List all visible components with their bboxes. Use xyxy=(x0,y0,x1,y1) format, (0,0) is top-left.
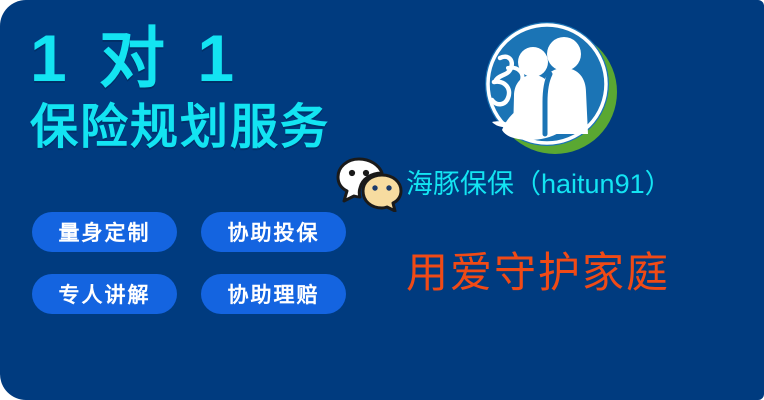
service-badge[interactable]: 协助投保 xyxy=(201,212,346,252)
wechat-handle-text: 海豚保保（haitun91） xyxy=(406,167,672,201)
headline-primary: 1 对 1 xyxy=(30,22,390,94)
globe-family-dolphin-icon xyxy=(478,18,624,158)
service-badge[interactable]: 量身定制 xyxy=(32,212,177,252)
wechat-icon xyxy=(336,156,404,212)
brand-logo xyxy=(478,18,624,158)
service-badge[interactable]: 专人讲解 xyxy=(32,274,177,314)
promotional-poster: 1 对 1 保险规划服务 量身定制 协助投保 专人讲解 协助理赔 xyxy=(0,0,764,400)
service-badge-group: 量身定制 协助投保 专人讲解 协助理赔 xyxy=(32,212,352,314)
headline-secondary: 保险规划服务 xyxy=(30,100,390,156)
slogan-text: 用爱守护家庭 xyxy=(406,248,670,298)
headline-block: 1 对 1 保险规划服务 xyxy=(30,22,390,156)
wechat-contact-row[interactable]: 海豚保保（haitun91） xyxy=(336,156,672,212)
service-badge[interactable]: 协助理赔 xyxy=(201,274,346,314)
